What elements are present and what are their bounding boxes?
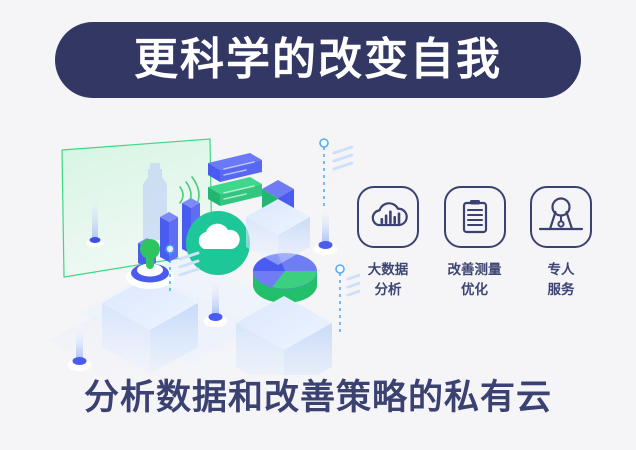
feature-label: 改善测量 优化 <box>448 260 502 299</box>
illustration <box>40 125 360 375</box>
poster-canvas: 更科学的改变自我 <box>0 0 636 450</box>
page-title: 更科学的改变自我 <box>134 38 502 82</box>
customer-service-person-icon <box>536 192 586 242</box>
pedestal-cube-top-right <box>246 199 310 265</box>
location-pin-b <box>314 203 338 255</box>
info-badge-green <box>208 177 262 206</box>
info-badge-blue <box>208 153 262 182</box>
feature-list: 大数据 分析 改善测量 优化 <box>352 186 597 299</box>
clipboard-icon <box>453 195 497 239</box>
feature-label: 大数据 分析 <box>368 260 409 299</box>
feature-item-measurement[interactable]: 改善测量 优化 <box>439 186 511 299</box>
feature-label: 专人 服务 <box>548 260 575 299</box>
feature-item-big-data[interactable]: 大数据 分析 <box>352 186 424 299</box>
cloud-badge <box>186 211 250 275</box>
title-banner: 更科学的改变自我 <box>55 22 581 98</box>
cloud-bar-chart-icon-box <box>357 186 419 248</box>
cloud-bar-chart-icon <box>366 195 410 239</box>
clipboard-icon-box <box>444 186 506 248</box>
customer-service-person-icon-box <box>530 186 592 248</box>
footer-tagline: 分析数据和改善策略的私有云 <box>0 380 636 415</box>
feature-item-service[interactable]: 专人 服务 <box>525 186 597 299</box>
